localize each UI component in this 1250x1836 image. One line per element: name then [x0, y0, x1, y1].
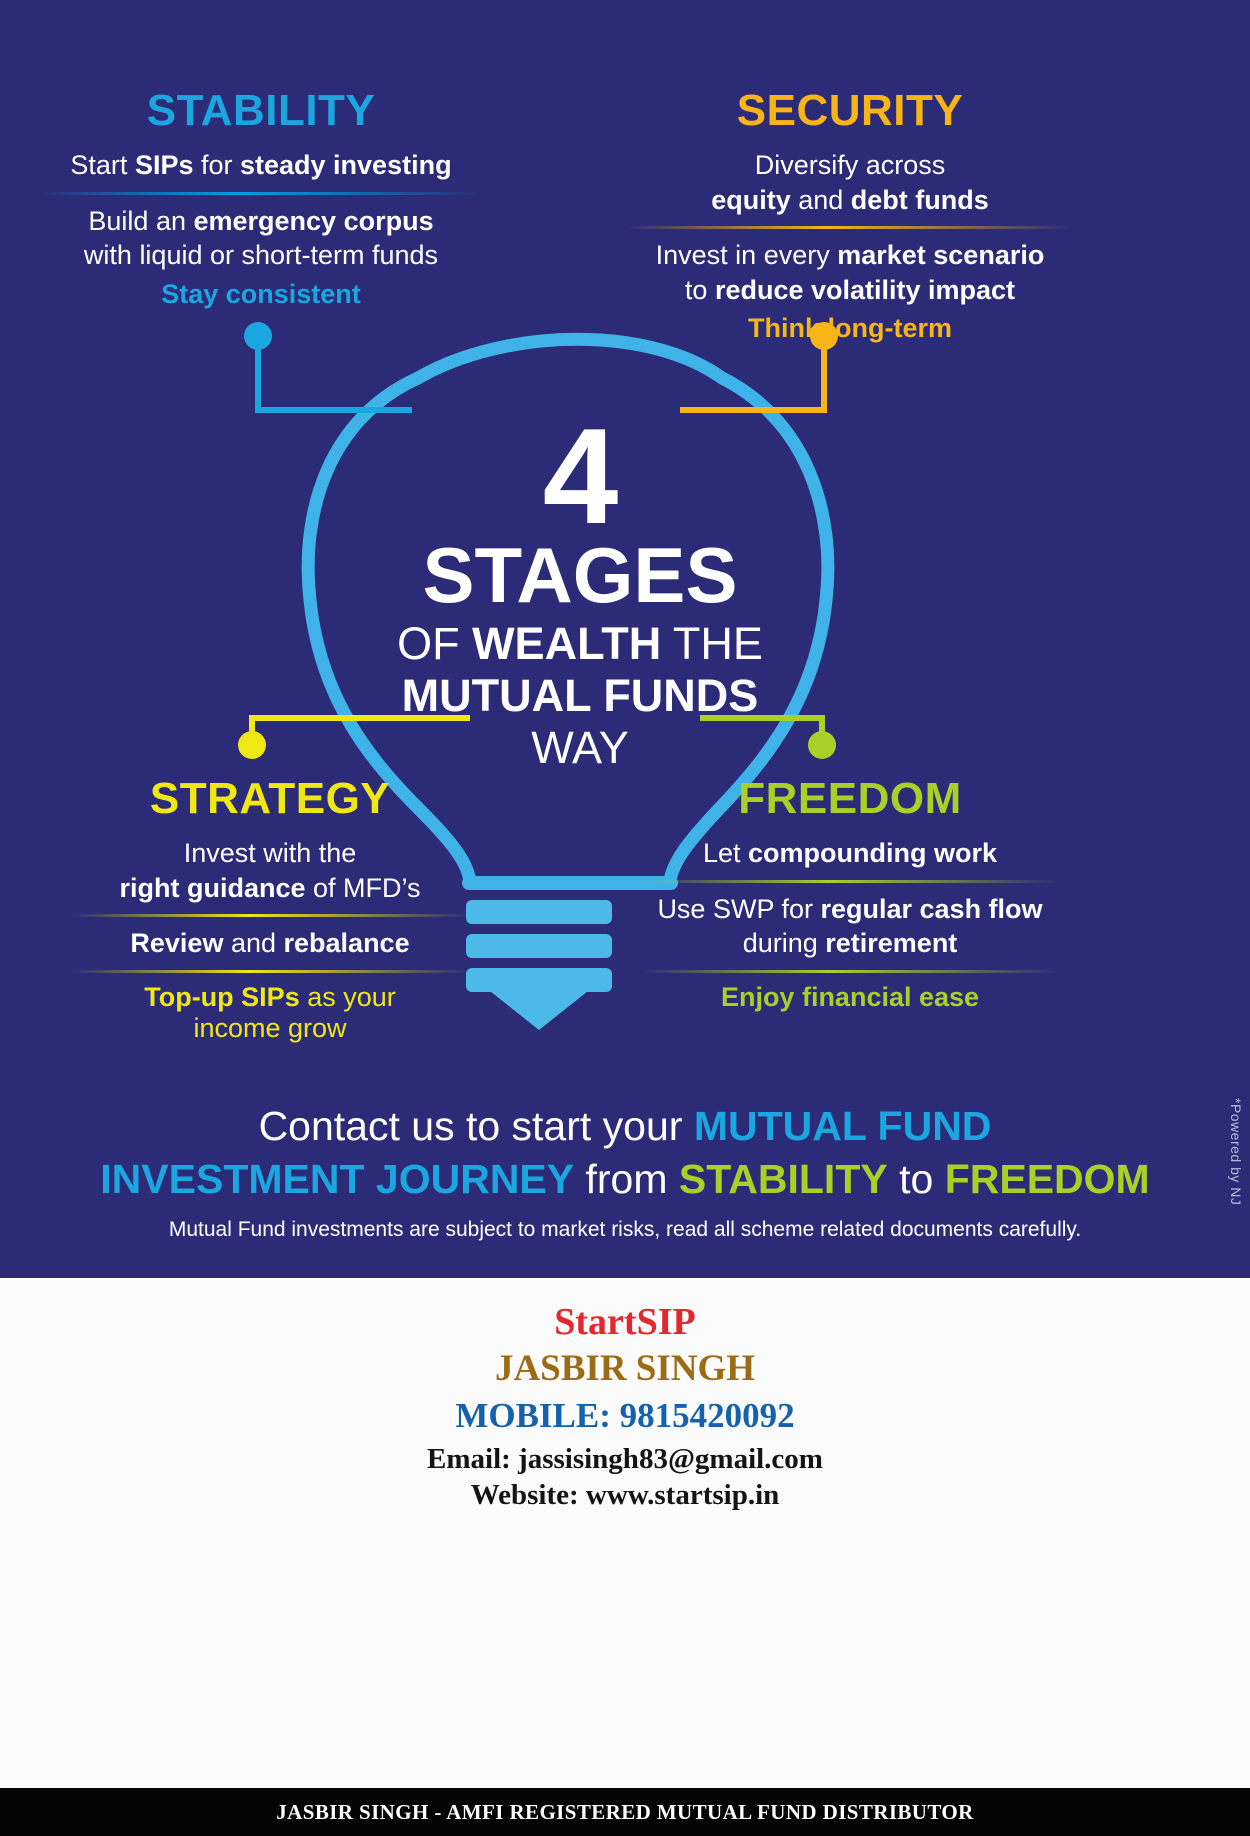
cta-freedom: FREEDOM: [945, 1156, 1150, 1202]
quadrant-stability-block-1: Start SIPs for steady investing: [36, 148, 486, 183]
security-tagline: Think long-term: [625, 313, 1075, 344]
center-headline: 4 STAGES OF WEALTH THE MUTUAL FUNDS WAY: [345, 418, 815, 773]
freedom-line-1-pre: Let: [703, 838, 748, 868]
quadrant-stability-block-2: Build an emergency corpus with liquid or…: [36, 204, 486, 273]
strategy-line-2-bold: right guidance: [119, 873, 305, 903]
strategy-tagline-line-1: Top-up SIPs as your: [70, 982, 470, 1013]
security-line-1: Diversify across: [625, 148, 1075, 183]
stability-line-1-bold2: steady investing: [240, 150, 452, 180]
email-address[interactable]: Email: jassisingh83@gmail.com: [0, 1441, 1250, 1477]
infographic-poster: 4 STAGES OF WEALTH THE MUTUAL FUNDS WAY …: [0, 0, 1250, 1836]
strategy-line-3-mid: and: [223, 928, 283, 958]
strategy-tagline-line-2: income grow: [70, 1013, 470, 1044]
security-line-2-bold2: debt funds: [851, 185, 989, 215]
strategy-line-1: Invest with the: [70, 836, 470, 871]
cta-investment-journey: INVESTMENT JOURNEY: [100, 1156, 574, 1202]
strategy-line-2: right guidance of MFD’s: [70, 871, 470, 906]
stability-line-2-bold: emergency corpus: [193, 206, 433, 236]
strategy-tagline-rest: as your: [300, 982, 396, 1012]
distributor-name: JASBIR SINGH: [0, 1347, 1250, 1391]
quadrant-strategy: STRATEGY Invest with the right guidance …: [70, 776, 470, 1044]
cta-part-1: Contact us to start your: [259, 1103, 694, 1149]
security-line-4: to reduce volatility impact: [625, 273, 1075, 308]
quadrant-freedom-block-2: Use SWP for regular cash flow during ret…: [640, 892, 1060, 961]
quadrant-freedom-block-1: Let compounding work: [640, 836, 1060, 871]
headline-of-wealth-the: OF WEALTH THE: [345, 617, 815, 670]
freedom-line-1: Let compounding work: [640, 836, 1060, 871]
stability-line-2: Build an emergency corpus: [36, 204, 486, 239]
strategy-line-3-bold: Review: [130, 928, 223, 958]
quadrant-strategy-title: STRATEGY: [70, 776, 470, 822]
headline-the: THE: [661, 618, 763, 669]
quadrant-strategy-block-1: Invest with the right guidance of MFD’s: [70, 836, 470, 905]
strategy-line-3-bold2: rebalance: [284, 928, 410, 958]
freedom-line-2-bold: regular cash flow: [820, 894, 1042, 924]
headline-stages: STAGES: [345, 537, 815, 613]
strategy-tagline-bold: Top-up SIPs: [144, 982, 300, 1012]
freedom-divider-2: [640, 970, 1060, 973]
freedom-line-2: Use SWP for regular cash flow: [640, 892, 1060, 927]
mobile-number[interactable]: MOBILE: 9815420092: [0, 1395, 1250, 1437]
security-line-2: equity and debt funds: [625, 183, 1075, 218]
quadrant-freedom-title: FREEDOM: [640, 776, 1060, 822]
stability-line-3: with liquid or short-term funds: [36, 238, 486, 273]
freedom-line-3-pre: during: [743, 928, 826, 958]
stability-line-1-bold: SIPs: [135, 150, 194, 180]
stability-line-2-pre: Build an: [88, 206, 193, 236]
quadrant-stability-title: STABILITY: [36, 88, 486, 134]
quadrant-security-block-1: Diversify across equity and debt funds: [625, 148, 1075, 217]
stability-divider: [36, 192, 486, 195]
headline-number: 4: [345, 418, 815, 535]
security-line-2-mid: and: [791, 185, 851, 215]
quadrant-stability: STABILITY Start SIPs for steady investin…: [36, 88, 486, 310]
strategy-line-3: Review and rebalance: [70, 926, 470, 961]
quadrant-strategy-block-2: Review and rebalance: [70, 926, 470, 961]
strategy-divider-1: [70, 914, 470, 917]
headline-wealth: WEALTH: [472, 618, 661, 669]
stability-line-1-pre: Start: [70, 150, 135, 180]
headline-way: WAY: [345, 722, 815, 773]
strategy-line-2-post: of MFD’s: [306, 873, 421, 903]
freedom-line-1-bold: compounding work: [748, 838, 997, 868]
quadrant-security-block-2: Invest in every market scenario to reduc…: [625, 238, 1075, 307]
call-to-action: Contact us to start your MUTUAL FUND INV…: [40, 1100, 1210, 1207]
freedom-line-3-bold: retirement: [825, 928, 957, 958]
stability-line-1-mid: for: [193, 150, 240, 180]
freedom-line-3: during retirement: [640, 926, 1060, 961]
security-line-3: Invest in every market scenario: [625, 238, 1075, 273]
cta-to: to: [888, 1156, 945, 1202]
cta-stability: STABILITY: [679, 1156, 888, 1202]
security-line-2-bold: equity: [711, 185, 791, 215]
cta-mutual-fund: MUTUAL FUND: [694, 1103, 992, 1149]
brand-name: StartSIP: [0, 1300, 1250, 1345]
contact-block: StartSIP JASBIR SINGH MOBILE: 9815420092…: [0, 1300, 1250, 1514]
security-line-3-bold: market scenario: [837, 240, 1044, 270]
stability-tagline: Stay consistent: [36, 279, 486, 310]
freedom-line-2-pre: Use SWP for: [657, 894, 820, 924]
powered-by-label: *Powered by NJ: [1228, 1098, 1244, 1205]
security-line-4-pre: to: [685, 275, 715, 305]
security-line-3-pre: Invest in every: [656, 240, 838, 270]
quadrant-security-title: SECURITY: [625, 88, 1075, 134]
website-address[interactable]: Website: www.startsip.in: [0, 1477, 1250, 1513]
strategy-divider-2: [70, 970, 470, 973]
cta-from: from: [574, 1156, 679, 1202]
security-divider: [625, 226, 1075, 229]
freedom-divider-1: [640, 880, 1060, 883]
risk-disclaimer: Mutual Fund investments are subject to m…: [40, 1218, 1210, 1242]
freedom-tagline: Enjoy financial ease: [640, 982, 1060, 1013]
stability-line-1: Start SIPs for steady investing: [36, 148, 486, 183]
quadrant-security: SECURITY Diversify across equity and deb…: [625, 88, 1075, 344]
amfi-footer-text: JASBIR SINGH - AMFI REGISTERED MUTUAL FU…: [276, 1800, 973, 1825]
headline-mutual-funds: MUTUAL FUNDS: [345, 670, 815, 721]
security-line-4-bold: reduce volatility impact: [715, 275, 1015, 305]
amfi-footer-bar: JASBIR SINGH - AMFI REGISTERED MUTUAL FU…: [0, 1788, 1250, 1836]
quadrant-freedom: FREEDOM Let compounding work Use SWP for…: [640, 776, 1060, 1013]
headline-of: OF: [397, 618, 472, 669]
